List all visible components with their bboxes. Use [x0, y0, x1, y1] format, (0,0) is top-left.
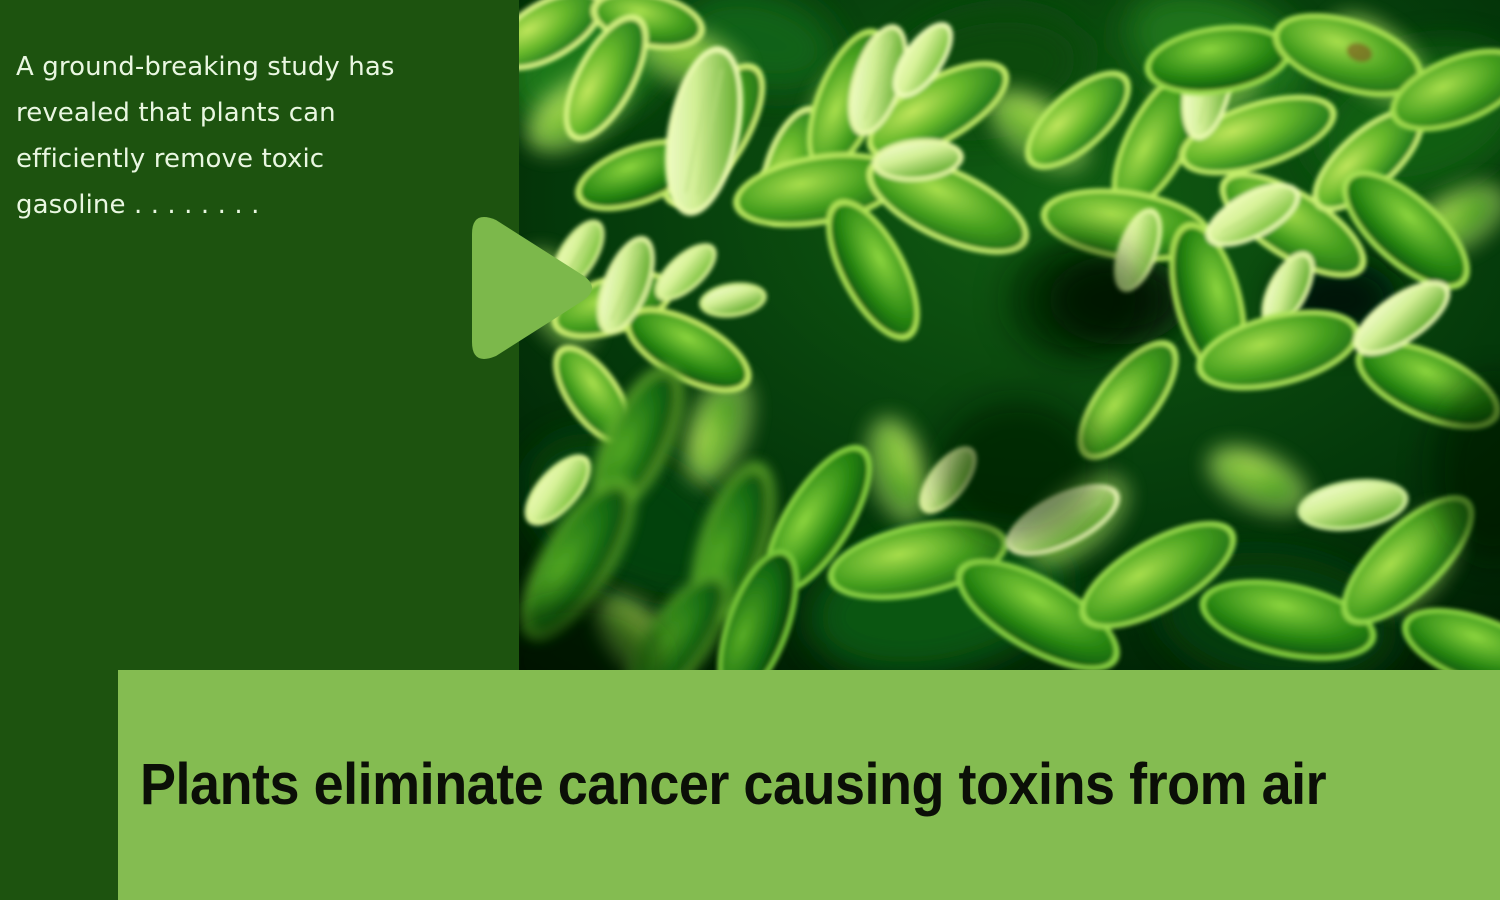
play-video-button[interactable] — [466, 214, 602, 362]
plant-photo-illustration — [518, 0, 1500, 671]
news-card: A ground-breaking study has revealed tha… — [0, 0, 1500, 900]
headline-banner: Plants eliminate cancer causing toxins f… — [118, 670, 1500, 900]
play-triangle-icon[interactable] — [466, 214, 602, 362]
article-lede: A ground-breaking study has revealed tha… — [16, 44, 486, 228]
article-photo — [518, 0, 1500, 671]
article-headline: Plants eliminate cancer causing toxins f… — [140, 755, 1326, 816]
